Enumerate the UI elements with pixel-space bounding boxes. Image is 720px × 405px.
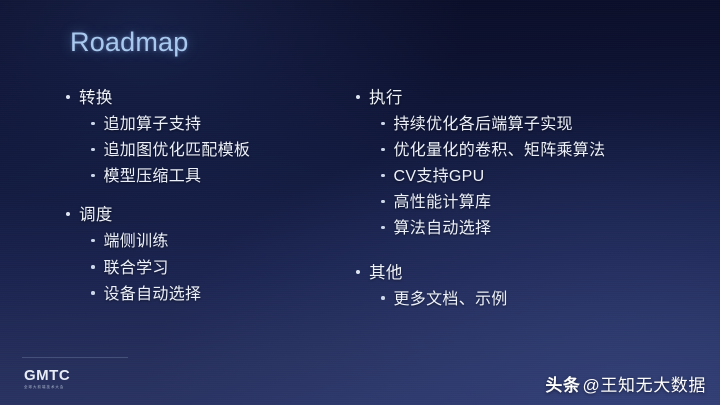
watermark-handle: @王知无大数据 xyxy=(583,376,706,395)
bullet-level1-label: 调度 xyxy=(79,205,113,226)
bullet-level2: 优化量化的卷积、矩阵乘算法 xyxy=(381,140,676,162)
bullet-level2-label: 设备自动选择 xyxy=(104,284,202,306)
bullet-dot-icon xyxy=(91,174,95,178)
bullet-dot-icon xyxy=(356,270,360,274)
bullet-level2-label: 算法自动选择 xyxy=(394,218,492,240)
bullet-dot-icon xyxy=(356,95,360,99)
gmtc-logo-subtitle: 全球大前端技术大会 xyxy=(24,386,70,389)
bullet-level2: CV支持GPU xyxy=(381,166,676,188)
bullet-level2: 更多文档、示例 xyxy=(381,289,676,311)
bullet-level2: 算法自动选择 xyxy=(381,218,676,240)
bullet-level2: 设备自动选择 xyxy=(91,284,356,306)
bullet-level1: 调度 xyxy=(66,205,356,226)
bullet-dot-icon xyxy=(91,291,95,295)
bullet-level2: 追加图优化匹配模板 xyxy=(91,140,356,162)
footer-divider xyxy=(22,357,128,358)
bullet-dot-icon xyxy=(91,122,95,126)
bullet-dot-icon xyxy=(381,296,385,300)
bullet-group: 调度 端侧训练 联合学习 设备自动选择 xyxy=(66,205,356,305)
bullet-dot-icon xyxy=(381,200,385,204)
bullet-level1: 其他 xyxy=(356,263,676,284)
bullet-level2: 追加算子支持 xyxy=(91,114,356,136)
bullet-level2-label: 持续优化各后端算子实现 xyxy=(394,114,573,136)
bullet-level2-label: 高性能计算库 xyxy=(394,192,492,214)
bullet-dot-icon xyxy=(381,148,385,152)
gmtc-logo-mark: GMTC xyxy=(24,368,70,383)
watermark: 头条@王知无大数据 xyxy=(545,371,706,396)
bullet-level2-label: 联合学习 xyxy=(104,258,169,280)
bullet-level2: 高性能计算库 xyxy=(381,192,676,214)
bullet-level2-label: 模型压缩工具 xyxy=(104,166,202,188)
bullet-level2: 端侧训练 xyxy=(91,231,356,253)
bullet-level1: 转换 xyxy=(66,88,356,109)
bullet-dot-icon xyxy=(381,226,385,230)
bullet-group: 转换 追加算子支持 追加图优化匹配模板 模型压缩工具 xyxy=(66,88,356,188)
bullet-group: 执行 持续优化各后端算子实现 优化量化的卷积、矩阵乘算法 CV支持GPU 高性能… xyxy=(356,88,676,241)
bullet-level1-label: 执行 xyxy=(369,88,403,109)
page-title: Roadmap xyxy=(70,27,188,58)
bullet-dot-icon xyxy=(91,148,95,152)
content-column-left: 转换 追加算子支持 追加图优化匹配模板 模型压缩工具 调度 端侧训练 xyxy=(66,88,356,323)
bullet-level2: 持续优化各后端算子实现 xyxy=(381,114,676,136)
bullet-dot-icon xyxy=(91,265,95,269)
bullet-level2: 模型压缩工具 xyxy=(91,166,356,188)
bullet-dot-icon xyxy=(381,174,385,178)
bullet-level2: 联合学习 xyxy=(91,258,356,280)
bullet-level2-label: 端侧训练 xyxy=(104,231,169,253)
bullet-level1: 执行 xyxy=(356,88,676,109)
bullet-dot-icon xyxy=(66,95,70,99)
bullet-dot-icon xyxy=(66,212,70,216)
presentation-slide: Roadmap 转换 追加算子支持 追加图优化匹配模板 模型压缩工具 xyxy=(0,0,720,405)
bullet-dot-icon xyxy=(381,122,385,126)
bullet-dot-icon xyxy=(91,239,95,243)
bullet-level2-label: CV支持GPU xyxy=(394,166,485,188)
bullet-level2-label: 追加算子支持 xyxy=(104,114,202,136)
content-column-right: 执行 持续优化各后端算子实现 优化量化的卷积、矩阵乘算法 CV支持GPU 高性能… xyxy=(356,88,676,328)
bullet-level2-label: 优化量化的卷积、矩阵乘算法 xyxy=(394,140,606,162)
watermark-brand: 头条 xyxy=(545,376,580,395)
bullet-level2-label: 追加图优化匹配模板 xyxy=(104,140,251,162)
bullet-level1-label: 转换 xyxy=(79,88,113,109)
gmtc-logo: GMTC 全球大前端技术大会 xyxy=(24,368,70,389)
bullet-group: 其他 更多文档、示例 xyxy=(356,263,676,311)
bullet-level2-label: 更多文档、示例 xyxy=(394,289,508,311)
bullet-level1-label: 其他 xyxy=(369,263,403,284)
